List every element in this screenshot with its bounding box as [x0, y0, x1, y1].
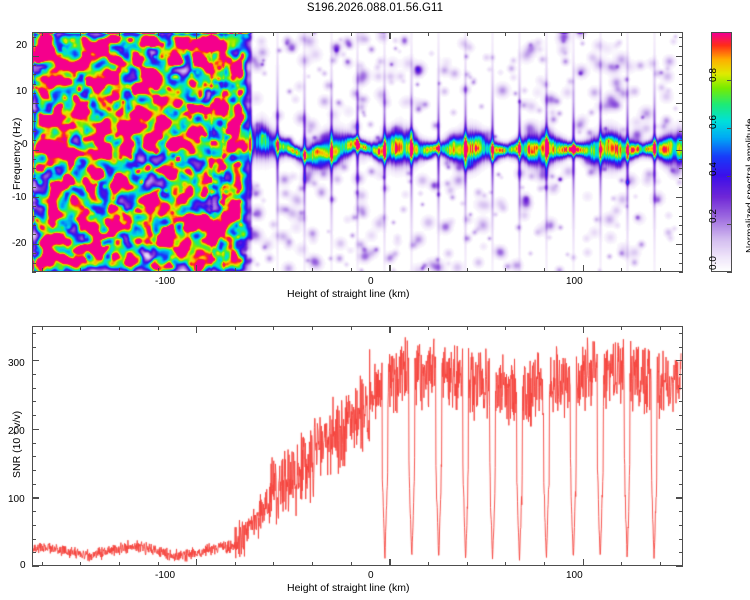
spectrogram-ymajor-tick [32, 197, 39, 198]
snr-xminor-tick [621, 562, 622, 566]
spectrogram-xminor-tick-top [467, 32, 468, 36]
snr-xminor-tick-top [312, 326, 313, 330]
spectrogram-xminor-tick-top [544, 32, 545, 36]
spectrogram-xminor-tick [80, 268, 81, 272]
spectrogram-xminor-tick [235, 268, 236, 272]
snr-yminor-tick-right [679, 525, 683, 526]
spectrogram-xminor-tick [505, 268, 506, 272]
snr-xlabel: Height of straight line (km) [287, 582, 410, 594]
spectrogram-yminor-tick-right [679, 84, 683, 85]
colorbar-tick-06: 0.6 [708, 115, 719, 129]
snr-ytick-0: 0 [20, 560, 26, 571]
snr-xminor-tick [660, 562, 661, 566]
spectrogram-yminor-tick-right [679, 225, 683, 226]
spectrogram-yminor-tick-right [679, 263, 683, 264]
spectrogram-xminor-tick [312, 268, 313, 272]
figure-title: S196.2026.088.01.56.G11 [0, 2, 750, 14]
spectrogram-yminor-tick [32, 65, 36, 66]
snr-ymajor-tick [32, 429, 39, 430]
snr-xminor-tick-top [544, 326, 545, 330]
snr-yminor-tick [32, 470, 36, 471]
snr-xminor-tick-top [235, 326, 236, 330]
snr-yminor-tick [32, 443, 36, 444]
snr-yminor-tick [32, 415, 36, 416]
spectrogram-ytick-neg20: -20 [12, 238, 26, 249]
spectrogram-ymajor-tick [32, 150, 39, 151]
spectrogram-xminor-tick [660, 268, 661, 272]
spectrogram-ytick-10: 10 [16, 86, 27, 97]
snr-xmajor-tick-top [389, 326, 390, 333]
snr-xmajor-tick [389, 559, 390, 566]
spectrogram-yminor-tick [32, 263, 36, 264]
snr-ymajor-tick-right [676, 497, 683, 498]
snr-yminor-tick-right [679, 333, 683, 334]
snr-xminor-tick [235, 562, 236, 566]
snr-yminor-tick [32, 511, 36, 512]
spectrogram-ymajor-tick-right [676, 150, 683, 151]
snr-yminor-tick [32, 539, 36, 540]
spectrogram-yminor-tick [32, 112, 36, 113]
snr-xminor-tick [273, 562, 274, 566]
spectrogram-ymajor-tick-right [676, 103, 683, 104]
spectrogram-yminor-tick [32, 253, 36, 254]
snr-ymajor-tick [32, 360, 39, 361]
spectrogram-xminor-tick-top [621, 32, 622, 36]
figure-canvas: S196.2026.088.01.56.G11 Frequency (Hz) H… [0, 0, 750, 600]
snr-xminor-tick [119, 562, 120, 566]
snr-yminor-tick-right [679, 443, 683, 444]
spectrogram-xmajor-tick-top [196, 32, 197, 39]
snr-xminor-tick [42, 562, 43, 566]
spectrogram-xlabel: Height of straight line (km) [287, 288, 410, 300]
snr-ytick-300: 300 [8, 358, 25, 369]
spectrogram-xmajor-tick-top [583, 32, 584, 39]
snr-yminor-tick-right [679, 484, 683, 485]
spectrogram-yminor-tick-right [679, 159, 683, 160]
spectrogram-yminor-tick [32, 121, 36, 122]
spectrogram-xtick-neg100: -100 [155, 276, 175, 287]
spectrogram-yminor-tick-right [679, 187, 683, 188]
spectrogram-xminor-tick [621, 268, 622, 272]
spectrogram-ytick-neg10: -10 [12, 192, 26, 203]
spectrogram-yminor-tick-right [679, 234, 683, 235]
snr-xminor-tick-top [428, 326, 429, 330]
snr-yminor-tick-right [679, 374, 683, 375]
snr-yminor-tick [32, 552, 36, 553]
snr-ymajor-tick [32, 566, 39, 567]
spectrogram-yminor-tick [32, 187, 36, 188]
colorbar-tick [727, 224, 732, 225]
snr-xminor-tick-top [660, 326, 661, 330]
spectrogram-yminor-tick [32, 84, 36, 85]
colorbar-tick-08: 0.8 [708, 68, 719, 82]
spectrogram-yminor-tick [32, 46, 36, 47]
snr-yminor-tick-right [679, 401, 683, 402]
snr-xmajor-tick-top [583, 326, 584, 333]
snr-yminor-tick [32, 525, 36, 526]
spectrogram-yminor-tick [32, 131, 36, 132]
snr-yminor-tick-right [679, 552, 683, 553]
spectrogram-xminor-tick-top [80, 32, 81, 36]
spectrogram-yminor-tick-right [679, 112, 683, 113]
snr-xmajor-tick [196, 559, 197, 566]
spectrogram-xminor-tick-top [273, 32, 274, 36]
spectrogram-yminor-tick-right [679, 121, 683, 122]
spectrogram-yminor-tick-right [679, 253, 683, 254]
snr-yminor-tick [32, 388, 36, 389]
spectrogram-yminor-tick [32, 234, 36, 235]
colorbar-label: Normalized spectral amplitude [745, 118, 750, 253]
spectrogram-xminor-tick [351, 268, 352, 272]
spectrogram-xmajor-tick-top [389, 32, 390, 39]
spectrogram-xminor-tick [158, 268, 159, 272]
spectrogram-yminor-tick [32, 178, 36, 179]
spectrogram-ylabel: Frequency (Hz) [11, 118, 23, 190]
spectrogram-ymajor-tick [32, 56, 39, 57]
snr-yminor-tick [32, 333, 36, 334]
spectrogram-xminor-tick [119, 268, 120, 272]
snr-xminor-tick [505, 562, 506, 566]
snr-xminor-tick-top [119, 326, 120, 330]
spectrogram-ymajor-tick-right [676, 56, 683, 57]
spectrogram-yminor-tick [32, 140, 36, 141]
snr-yminor-tick [32, 401, 36, 402]
spectrogram-yminor-tick [32, 272, 36, 273]
snr-ytick-200: 200 [8, 426, 25, 437]
snr-xminor-tick-top [42, 326, 43, 330]
spectrogram-ymajor-tick-right [676, 244, 683, 245]
spectrogram-yminor-tick-right [679, 46, 683, 47]
spectrogram-yminor-tick-right [679, 272, 683, 273]
spectrogram-yminor-tick-right [679, 178, 683, 179]
snr-xminor-tick-top [351, 326, 352, 330]
spectrogram-yminor-tick-right [679, 206, 683, 207]
snr-xminor-tick-top [467, 326, 468, 330]
spectrogram-yminor-tick-right [679, 37, 683, 38]
colorbar-tick [727, 176, 732, 177]
colorbar-tick-00: 0.0 [708, 256, 719, 270]
spectrogram-xminor-tick-top [505, 32, 506, 36]
snr-xminor-tick [80, 562, 81, 566]
spectrogram-yminor-tick [32, 159, 36, 160]
spectrogram-yminor-tick-right [679, 140, 683, 141]
spectrogram-xminor-tick [467, 268, 468, 272]
spectrogram-xmajor-tick [389, 265, 390, 272]
snr-yminor-tick-right [679, 388, 683, 389]
spectrogram-xminor-tick-top [351, 32, 352, 36]
spectrogram-xminor-tick [273, 268, 274, 272]
snr-ymajor-tick-right [676, 429, 683, 430]
spectrogram-yminor-tick [32, 168, 36, 169]
spectrogram-panel [32, 32, 683, 272]
colorbar-tick [727, 128, 732, 129]
colorbar-tick [727, 272, 732, 273]
snr-xminor-tick [544, 562, 545, 566]
spectrogram-yminor-tick-right [679, 131, 683, 132]
spectrogram-yminor-tick-right [679, 216, 683, 217]
spectrogram-xminor-tick-top [42, 32, 43, 36]
snr-ytick-100: 100 [8, 494, 25, 505]
spectrogram-yminor-tick [32, 216, 36, 217]
spectrogram-xminor-tick [42, 268, 43, 272]
colorbar-tick-02: 0.2 [708, 209, 719, 223]
snr-xminor-tick-top [80, 326, 81, 330]
spectrogram-yminor-tick-right [679, 65, 683, 66]
spectrogram-yminor-tick-right [679, 74, 683, 75]
snr-xtick-neg100: -100 [155, 570, 175, 581]
spectrogram-ymajor-tick-right [676, 197, 683, 198]
snr-yminor-tick [32, 347, 36, 348]
snr-yminor-tick [32, 374, 36, 375]
snr-panel [32, 326, 683, 566]
spectrogram-xmajor-tick [196, 265, 197, 272]
snr-yminor-tick-right [679, 347, 683, 348]
spectrogram-xminor-tick [544, 268, 545, 272]
snr-xmajor-tick-top [196, 326, 197, 333]
snr-xtick-0: 0 [368, 570, 374, 581]
snr-xminor-tick-top [273, 326, 274, 330]
spectrogram-xtick-0: 0 [368, 276, 374, 287]
spectrogram-yminor-tick-right [679, 168, 683, 169]
snr-yminor-tick [32, 484, 36, 485]
snr-xminor-tick [351, 562, 352, 566]
spectrogram-xtick-100: 100 [566, 276, 583, 287]
spectrogram-yminor-tick [32, 37, 36, 38]
spectrogram-yminor-tick [32, 74, 36, 75]
snr-yminor-tick-right [679, 470, 683, 471]
spectrogram-yminor-tick [32, 225, 36, 226]
spectrogram-xmajor-tick [583, 265, 584, 272]
snr-xminor-tick [467, 562, 468, 566]
snr-yminor-tick-right [679, 456, 683, 457]
snr-xminor-tick [312, 562, 313, 566]
snr-yminor-tick-right [679, 511, 683, 512]
snr-ymajor-tick [32, 497, 39, 498]
spectrogram-image [33, 33, 682, 271]
snr-trace-line [33, 327, 682, 565]
spectrogram-xminor-tick-top [428, 32, 429, 36]
snr-xminor-tick-top [158, 326, 159, 330]
spectrogram-xminor-tick-top [660, 32, 661, 36]
spectrogram-yminor-tick [32, 93, 36, 94]
snr-ymajor-tick-right [676, 360, 683, 361]
spectrogram-ymajor-tick [32, 244, 39, 245]
snr-xminor-tick [428, 562, 429, 566]
snr-yminor-tick [32, 456, 36, 457]
spectrogram-ytick-0: 0 [22, 139, 28, 150]
colorbar-tick-04: 0.4 [708, 162, 719, 176]
spectrogram-xminor-tick-top [235, 32, 236, 36]
spectrogram-xminor-tick-top [119, 32, 120, 36]
spectrogram-xminor-tick-top [312, 32, 313, 36]
spectrogram-ymajor-tick [32, 103, 39, 104]
spectrogram-ytick-20: 20 [16, 40, 27, 51]
spectrogram-yminor-tick [32, 206, 36, 207]
snr-ylabel: SNR (10 * v/v) [11, 411, 23, 478]
snr-yminor-tick-right [679, 539, 683, 540]
spectrogram-xminor-tick [428, 268, 429, 272]
colorbar-tick [727, 80, 732, 81]
snr-xmajor-tick [583, 559, 584, 566]
snr-xminor-tick-top [621, 326, 622, 330]
snr-xtick-100: 100 [566, 570, 583, 581]
snr-xminor-tick-top [505, 326, 506, 330]
spectrogram-yminor-tick-right [679, 93, 683, 94]
spectrogram-xminor-tick-top [158, 32, 159, 36]
snr-xminor-tick [158, 562, 159, 566]
snr-ymajor-tick-right [676, 566, 683, 567]
snr-yminor-tick-right [679, 415, 683, 416]
